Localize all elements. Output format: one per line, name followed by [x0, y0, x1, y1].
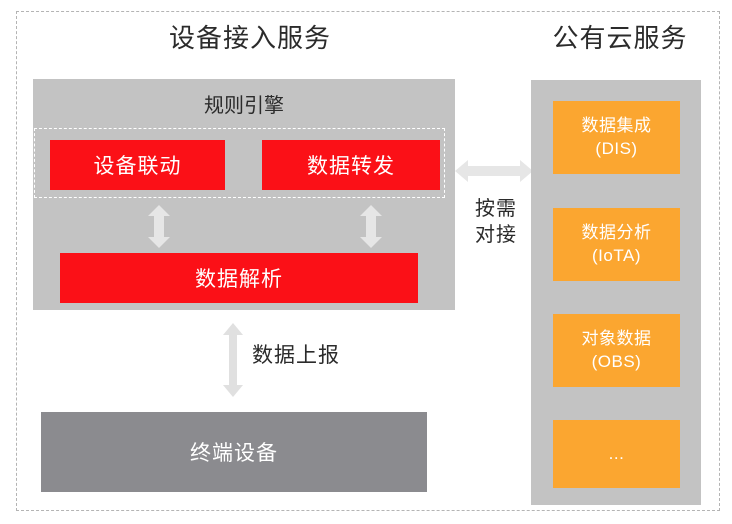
rule-engine-label: 规则引擎 — [33, 96, 455, 116]
cloud-service-box-dis[interactable]: 数据集成 (DIS) — [553, 101, 680, 174]
public-cloud-services-panel: 数据集成 (DIS) 数据分析 (IoTA) 对象数据 (OBS) ... — [531, 80, 701, 505]
cloud-service-box-iota[interactable]: 数据分析 (IoTA) — [553, 208, 680, 281]
cloud-service-box-obs[interactable]: 对象数据 (OBS) — [553, 314, 680, 387]
cloud-service-code-iota: (IoTA) — [592, 245, 641, 268]
module-box-device-linkage[interactable]: 设备联动 — [50, 140, 225, 190]
cloud-service-name-iota: 数据分析 — [582, 222, 652, 245]
device-access-section-title: 设备接入服务 — [120, 25, 380, 51]
double-arrow-horizontal-icon — [455, 159, 533, 183]
module-box-data-parsing[interactable]: 数据解析 — [60, 253, 418, 303]
double-arrow-vertical-icon-left — [147, 205, 171, 248]
cloud-service-code-dis: (DIS) — [595, 138, 637, 161]
on-demand-connection-label: 按需 对接 — [464, 196, 528, 249]
diagram-canvas: 设备接入服务 公有云服务 规则引擎 设备联动 数据转发 数据解析 数据上报 终端… — [0, 0, 732, 524]
cloud-service-name-dis: 数据集成 — [582, 115, 652, 138]
rule-engine-panel: 规则引擎 设备联动 数据转发 数据解析 — [33, 79, 455, 310]
double-arrow-data-report-icon — [222, 323, 244, 397]
data-report-label: 数据上报 — [252, 345, 340, 366]
module-box-data-forwarding[interactable]: 数据转发 — [262, 140, 440, 190]
cloud-service-box-more[interactable]: ... — [553, 420, 680, 488]
terminal-device-box[interactable]: 终端设备 — [41, 412, 427, 492]
on-demand-label-line1: 按需 — [464, 196, 528, 222]
on-demand-label-line2: 对接 — [464, 222, 528, 248]
double-arrow-vertical-icon-right — [359, 205, 383, 248]
cloud-service-name-more: ... — [609, 443, 625, 466]
cloud-service-code-obs: (OBS) — [592, 351, 642, 374]
public-cloud-section-title: 公有云服务 — [520, 25, 720, 51]
cloud-service-name-obs: 对象数据 — [582, 328, 652, 351]
